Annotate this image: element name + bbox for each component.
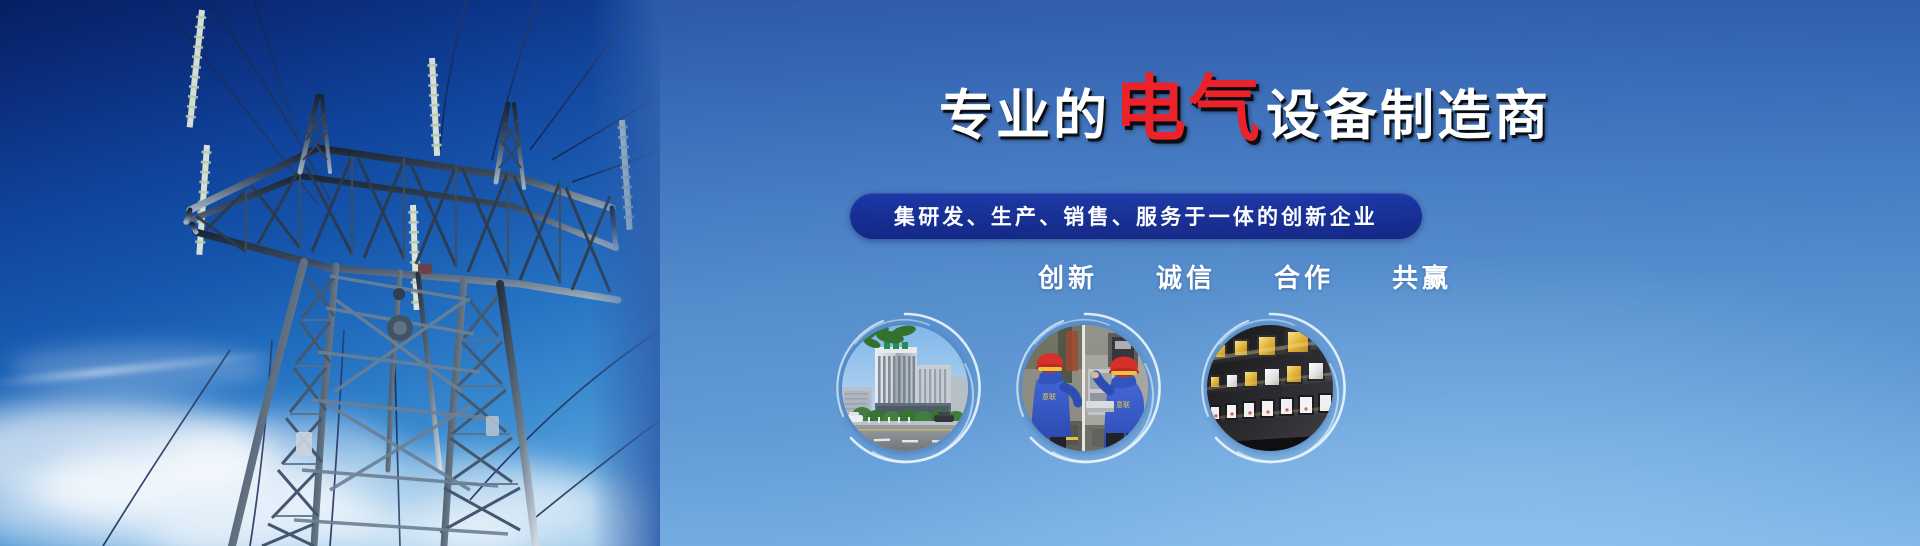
photo-circle-technicians[interactable]: 意联	[1022, 325, 1148, 451]
svg-text:意联: 意联	[1042, 392, 1056, 401]
technicians-working-image: 意联	[1022, 325, 1148, 451]
svg-text:意联: 意联	[1116, 400, 1130, 409]
office-building-image	[842, 325, 968, 451]
photo-circle-certificates[interactable]	[1207, 325, 1333, 451]
photo-circle-row: 意联	[0, 0, 1920, 546]
photo-circle-office-building[interactable]	[842, 325, 968, 451]
certificates-wall-image	[1207, 325, 1333, 451]
hero-banner: 专业的电气设备制造商 集研发、生产、销售、服务于一体的创新企业 创新 诚信 合作…	[0, 0, 1920, 546]
